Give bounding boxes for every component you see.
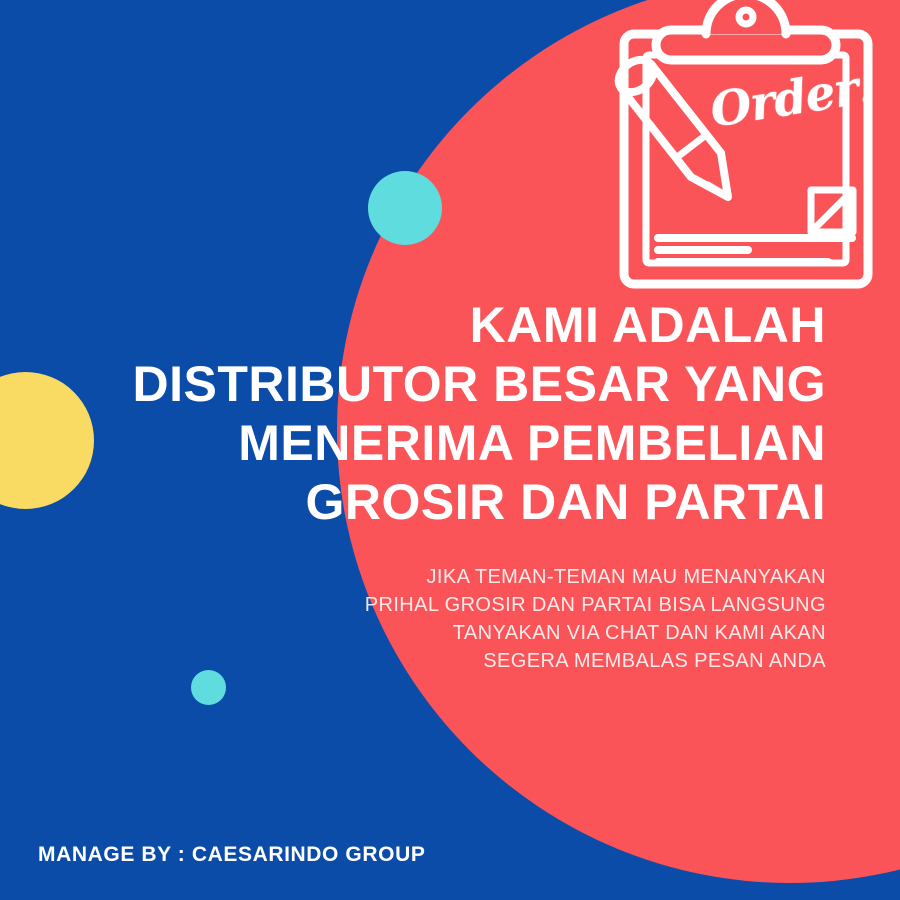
promotional-poster: Order! KAMI ADALAH DISTRIBUTOR BESAR YAN… [0, 0, 900, 900]
clipboard-order-icon: Order! [596, 0, 896, 312]
headline-line-2: DISTRIBUTOR BESAR YANG [0, 355, 826, 414]
headline-line-1: KAMI ADALAH [0, 296, 826, 355]
headline-line-4: GROSIR DAN PARTAI [0, 473, 826, 532]
headline-line-3: MENERIMA PEMBELIAN [0, 414, 826, 473]
subtitle-paragraph: JIKA TEMAN-TEMAN MAU MENANYAKAN PRIHAL G… [0, 563, 826, 675]
subtitle-line-1: JIKA TEMAN-TEMAN MAU MENANYAKAN [0, 563, 826, 591]
subtitle-line-3: TANYAKAN VIA CHAT DAN KAMI AKAN [0, 619, 826, 647]
page-title: KAMI ADALAH DISTRIBUTOR BESAR YANG MENER… [0, 296, 826, 532]
subtitle-line-2: PRIHAL GROSIR DAN PARTAI BISA LANGSUNG [0, 591, 826, 619]
footer-credit: MANAGE BY : CAESARINDO GROUP [38, 843, 425, 867]
teal-circle-large-shape [368, 171, 442, 245]
subtitle-line-4: SEGERA MEMBALAS PESAN ANDA [0, 647, 826, 675]
teal-circle-small-shape [191, 670, 226, 705]
